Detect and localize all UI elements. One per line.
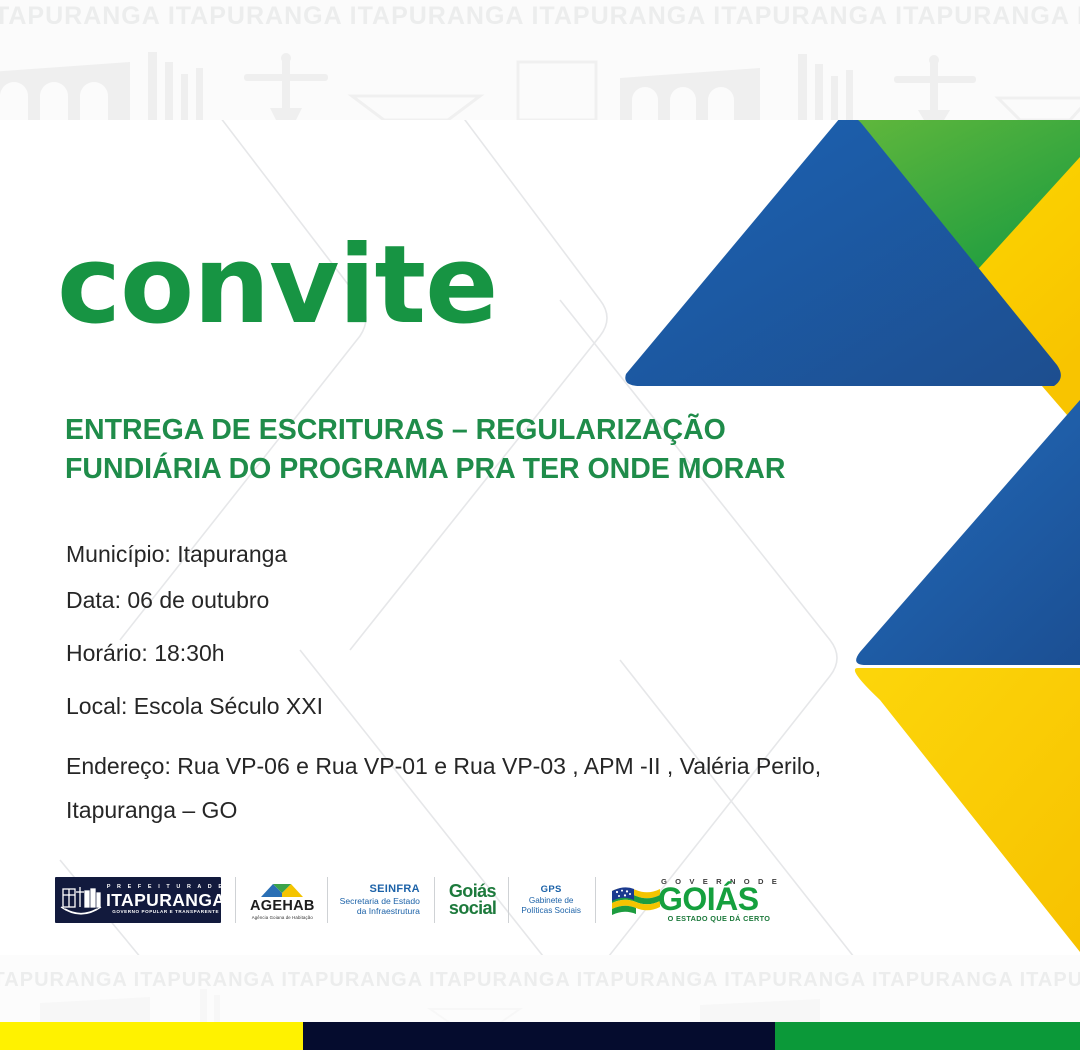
event-details: Município: Itapuranga Data: 06 de outubr… (66, 540, 896, 832)
bottom-bar-segment-yellow (0, 1022, 303, 1050)
bottom-bar-segment-navy (303, 1022, 775, 1050)
prefeitura-tagline: GOVERNO POPULAR E TRANSPARENTE (106, 910, 225, 915)
logo-divider (235, 877, 236, 923)
logo-governo-de-goias: G O V E R N O D E GOIÁS O ESTADO QUE DÁ … (610, 872, 780, 928)
agehab-name: AGEHAB (250, 899, 315, 914)
detail-horario: Horário: 18:30h (66, 639, 896, 668)
flyer-canvas: ITAPURANGA ITAPURANGA ITAPURANGA ITAPURA… (0, 0, 1080, 1050)
goias-flag-icon (610, 883, 662, 917)
prefeitura-name: ITAPURANGA (106, 891, 225, 909)
governo-goias-tagline: O ESTADO QUE DÁ CERTO (658, 915, 780, 922)
governo-goias-name: GOIÁS (658, 885, 780, 914)
goias-social-line2: social (449, 900, 496, 917)
detail-data: Data: 06 de outubro (66, 586, 896, 615)
gps-line1: Gabinete de (521, 896, 581, 906)
logo-divider (508, 877, 509, 923)
bottom-bar-segment-green (775, 1022, 1080, 1050)
logo-strip: P R E F E I T U R A D E ITAPURANGA GOVER… (55, 872, 780, 928)
seinfra-line1: Secretaria de Estado (340, 896, 420, 906)
logo-divider (434, 877, 435, 923)
event-headline-line1: ENTREGA DE ESCRITURAS – REGULARIZAÇÃO (65, 411, 865, 450)
agehab-roof-icon (259, 881, 305, 898)
bottom-color-bar (0, 1022, 1080, 1050)
detail-local: Local: Escola Século XXI (66, 692, 896, 721)
seinfra-line2: da Infraestrutura (340, 906, 420, 916)
logo-gps: GPS Gabinete de Políticas Sociais (521, 872, 581, 928)
logo-divider (327, 877, 328, 923)
event-headline: ENTREGA DE ESCRITURAS – REGULARIZAÇÃO FU… (65, 411, 865, 489)
event-headline-line2: FUNDIÁRIA DO PROGRAMA PRA TER ONDE MORAR (65, 450, 865, 489)
logo-agehab: AGEHAB Agência Goiana de Habitação (250, 872, 315, 928)
gps-line2: Políticas Sociais (521, 906, 581, 916)
logo-seinfra: SEINFRA Secretaria de Estado da Infraest… (340, 872, 420, 928)
detail-endereco-line1: Endereço: Rua VP-06 e Rua VP-01 e Rua VP… (66, 745, 896, 789)
seinfra-title: SEINFRA (340, 883, 420, 896)
agehab-subtitle: Agência Goiana de Habitação (252, 915, 313, 920)
logo-divider (595, 877, 596, 923)
gps-title: GPS (521, 884, 581, 895)
prefeitura-crest-icon (59, 881, 103, 919)
page-title: convite (57, 232, 497, 340)
detail-municipio: Município: Itapuranga (66, 540, 896, 569)
flyer-content: convite ENTREGA DE ESCRITURAS – REGULARI… (0, 0, 1080, 1050)
logo-prefeitura-itapuranga: P R E F E I T U R A D E ITAPURANGA GOVER… (55, 872, 221, 928)
detail-endereco-line2: Itapuranga – GO (66, 789, 896, 833)
logo-goias-social: Goiás social (449, 872, 496, 928)
